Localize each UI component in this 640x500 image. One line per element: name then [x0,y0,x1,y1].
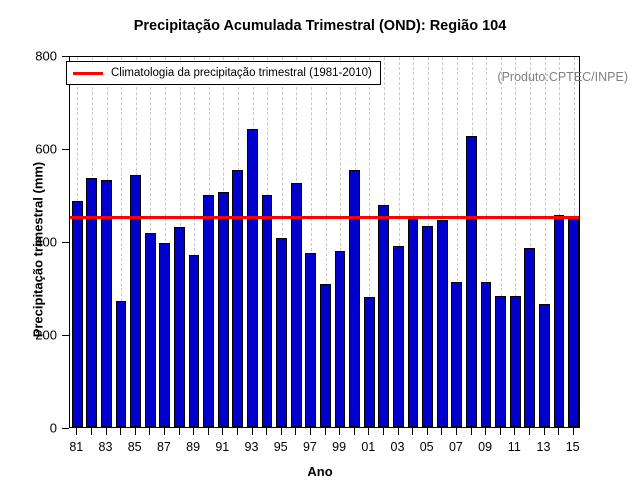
x-axis-tick-label: 15 [553,440,593,454]
bar [159,243,170,427]
bar [481,282,492,427]
plot-area [69,56,580,428]
bar [495,296,506,427]
legend-line-swatch [73,72,103,75]
x-axis-tick [281,428,282,435]
bar [145,233,156,427]
bar [422,226,433,427]
bar [408,219,419,427]
legend-label: Climatologia da precipitação trimestral … [111,67,372,79]
y-axis-tick [62,428,69,429]
bar [305,253,316,427]
x-axis-tick [208,428,209,435]
x-axis-tick [368,428,369,435]
x-axis-tick [252,428,253,435]
x-axis-tick [193,428,194,435]
x-axis-tick [76,428,77,435]
y-axis-tick [62,149,69,150]
x-axis-tick [106,428,107,435]
bar [554,215,565,427]
bar [568,218,579,427]
x-axis-tick [485,428,486,435]
bar [218,192,229,427]
x-axis-tick [383,428,384,435]
x-axis-tick [471,428,472,435]
bar [364,297,375,427]
x-axis-title: Ano [0,464,640,479]
y-axis-tick [62,242,69,243]
bar [130,175,141,427]
bar [349,170,360,427]
x-axis-tick [456,428,457,435]
bar [451,282,462,427]
y-axis-tick-label: 600 [5,142,57,157]
bar [320,284,331,427]
chart-page: Precipitação Acumulada Trimestral (OND):… [0,0,640,500]
x-axis-tick [295,428,296,435]
x-axis-tick [179,428,180,435]
bar [291,183,302,427]
bar [174,227,185,427]
x-axis-tick [354,428,355,435]
x-axis-tick [91,428,92,435]
x-axis-tick [514,428,515,435]
bar [466,136,477,427]
y-axis-tick [62,56,69,57]
x-axis-tick [529,428,530,435]
x-axis-tick [412,428,413,435]
bar [510,296,521,427]
x-axis-tick [325,428,326,435]
x-axis-tick [237,428,238,435]
bar [116,301,127,427]
x-axis-tick [266,428,267,435]
bar [86,178,97,427]
x-axis-tick [222,428,223,435]
x-axis-tick [573,428,574,435]
bar [72,201,83,427]
bar [437,220,448,427]
legend: Climatologia da precipitação trimestral … [66,61,381,85]
x-axis-tick [500,428,501,435]
y-axis-tick-label: 0 [5,421,57,436]
x-axis-tick [164,428,165,435]
x-axis-tick [310,428,311,435]
x-axis-tick [427,428,428,435]
x-axis-tick [558,428,559,435]
bar [539,304,550,427]
page-title: Precipitação Acumulada Trimestral (OND):… [0,18,640,34]
x-axis-tick [135,428,136,435]
x-axis-tick [441,428,442,435]
bar [262,195,273,428]
climatology-line [70,216,579,219]
x-axis-tick [544,428,545,435]
y-axis-tick-label: 400 [5,235,57,250]
bar [378,205,389,427]
producer-label: (Produto:CPTEC/INPE) [497,70,628,84]
y-axis-tick [62,335,69,336]
bar [393,246,404,427]
bar [335,251,346,427]
y-axis-tick-label: 200 [5,328,57,343]
bar [189,255,200,427]
bar [524,248,535,427]
bar [276,238,287,427]
bar [232,170,243,427]
bar [247,129,258,427]
x-axis-tick [149,428,150,435]
x-axis-tick [339,428,340,435]
x-axis-tick [120,428,121,435]
x-axis-tick [398,428,399,435]
y-axis-tick-label: 800 [5,49,57,64]
bar [203,195,214,428]
